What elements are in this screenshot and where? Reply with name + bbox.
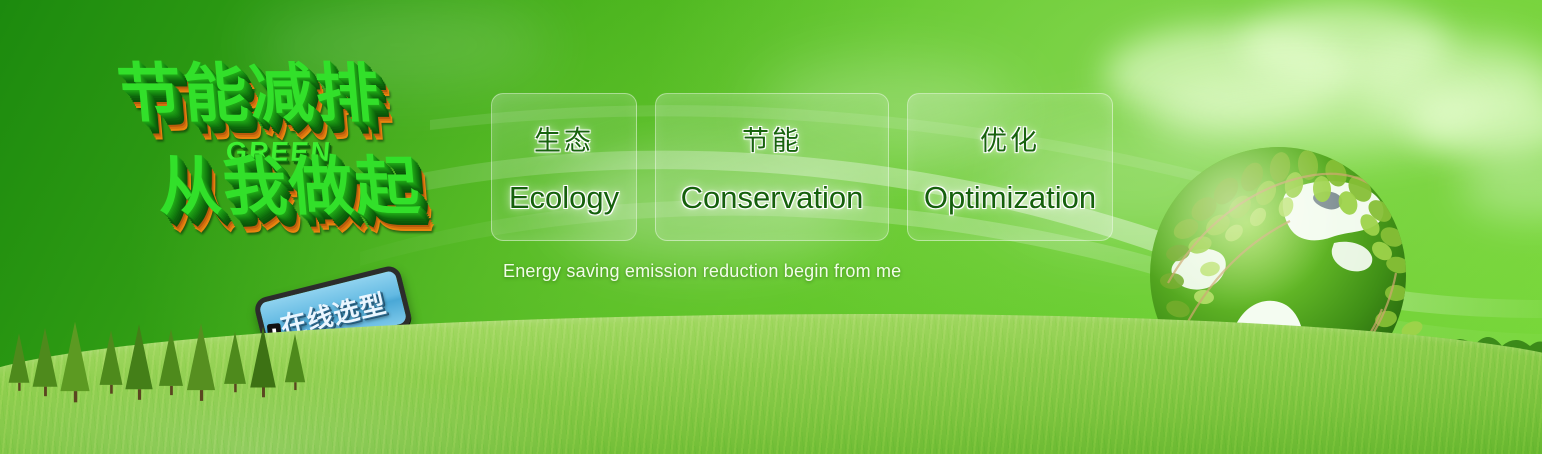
feature-card-en-label: Ecology: [509, 180, 619, 216]
feature-card-en-label: Conservation: [681, 180, 864, 216]
cloud-decoration: [1460, 150, 1542, 220]
cloud-decoration: [1240, 4, 1450, 84]
cloud-decoration: [1350, 40, 1542, 126]
cloud-decoration: [1410, 88, 1542, 158]
feature-card-optimization[interactable]: 优化 Optimization: [907, 93, 1113, 241]
grass-texture: [0, 314, 1542, 454]
feature-card-cn-label: 生态: [534, 119, 594, 158]
feature-card-cn-label: 优化: [980, 119, 1040, 158]
feature-card-conservation[interactable]: 节能 Conservation: [655, 93, 889, 241]
banner-subtitle: Energy saving emission reduction begin f…: [503, 261, 901, 282]
headline-3d-title: 节能减排 GREEN 从我做起: [104, 35, 492, 288]
feature-cards: 生态 Ecology 节能 Conservation 优化 Optimizati…: [491, 93, 1113, 241]
feature-card-cn-label: 节能: [742, 119, 802, 158]
headline-line-1: 节能减排: [115, 62, 384, 126]
eco-banner: 节能减排 GREEN 从我做起 在线选型 生态 Ecology 节能 Conse…: [0, 0, 1542, 454]
headline-line-2: 从我做起: [154, 154, 423, 218]
feature-card-ecology[interactable]: 生态 Ecology: [491, 93, 637, 241]
feature-card-en-label: Optimization: [924, 180, 1096, 216]
cloud-decoration: [1105, 26, 1355, 122]
